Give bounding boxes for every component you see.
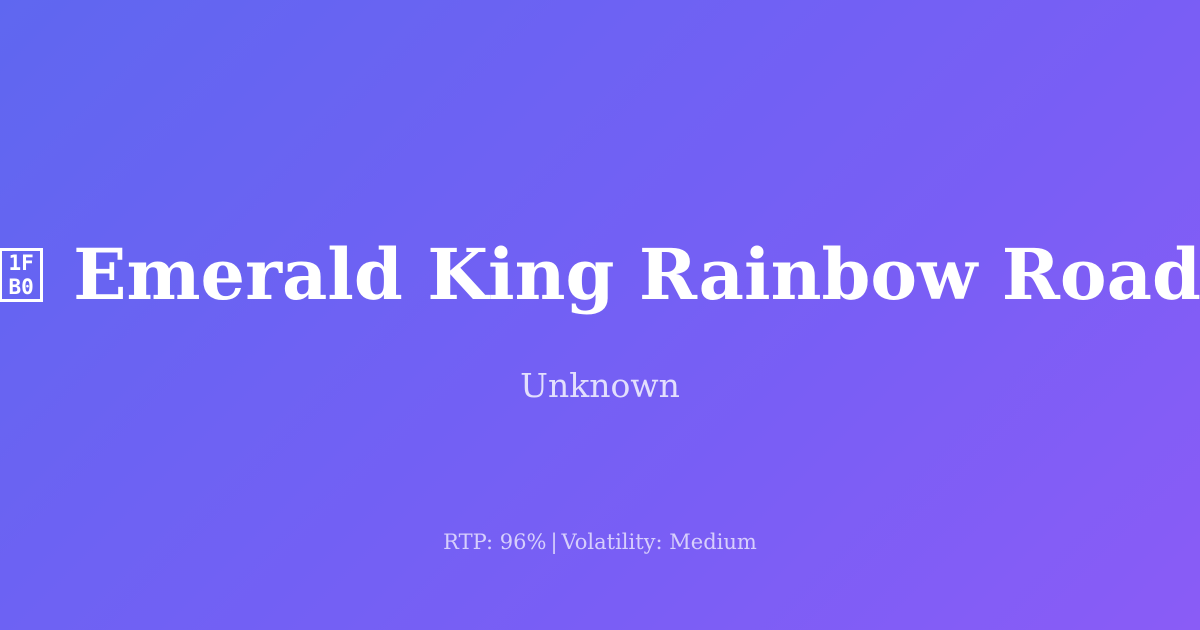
stats-separator: | xyxy=(546,530,561,554)
slot-machine-icon: 1F B0 xyxy=(0,248,43,302)
game-stats: RTP: 96%|Volatility: Medium xyxy=(0,527,1200,557)
og-share-card: 1F B0 Emerald King Rainbow Road Unknown … xyxy=(0,0,1200,630)
page-title: Emerald King Rainbow Road xyxy=(73,232,1200,318)
game-provider: Unknown xyxy=(0,364,1200,408)
rtp-value: RTP: 96% xyxy=(443,530,546,554)
tofu-codepoint-top: 1F xyxy=(8,251,33,275)
volatility-value: Volatility: Medium xyxy=(562,530,757,554)
title-row: 1F B0 Emerald King Rainbow Road xyxy=(0,232,1200,318)
tofu-codepoint-bottom: B0 xyxy=(8,275,33,299)
